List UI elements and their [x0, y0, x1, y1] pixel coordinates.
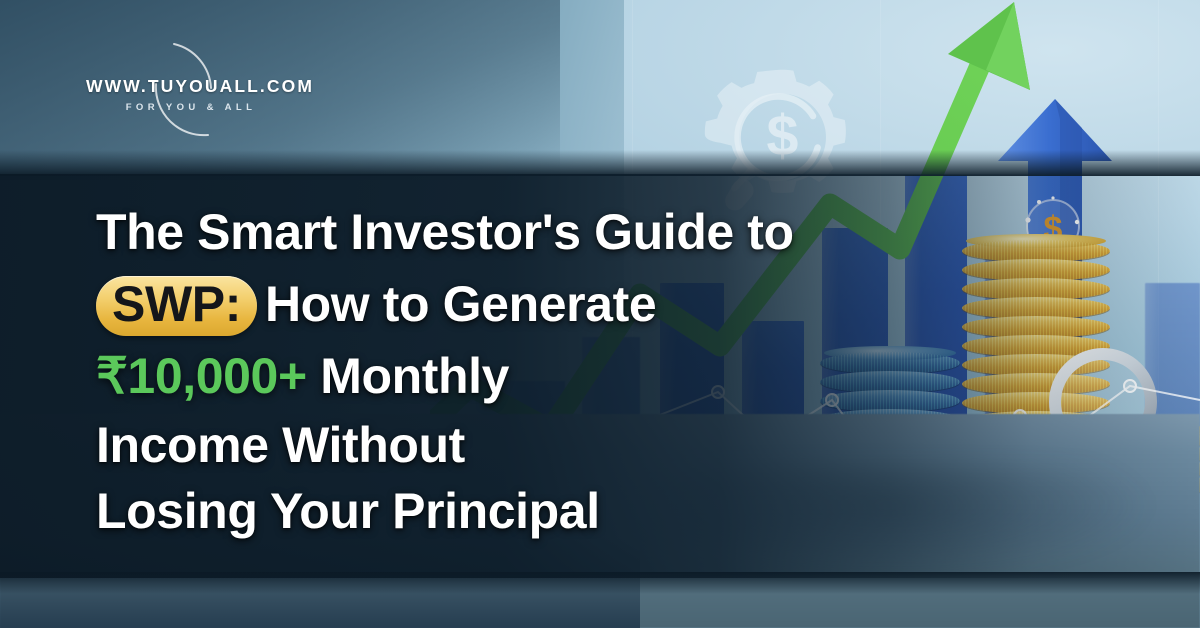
headline-line-1: The Smart Investor's Guide to — [96, 196, 996, 268]
overlay-top-fade — [0, 150, 1200, 176]
logo-domain-text: WWW.TUYOUALL.COM — [86, 76, 296, 97]
featured-image-banner: $ — [0, 0, 1200, 628]
headline-line-5: Losing Your Principal — [96, 478, 996, 544]
headline-amount: ₹10,000+ — [96, 348, 307, 404]
logo-tagline: FOR YOU & ALL — [86, 102, 296, 113]
headline-line-2-rest: How to Generate — [265, 276, 656, 332]
headline-line-3-rest: Monthly — [320, 348, 509, 404]
page-title: The Smart Investor's Guide to SWP:How to… — [96, 196, 996, 544]
site-logo[interactable]: WWW.TUYOUALL.COM FOR YOU & ALL — [86, 32, 296, 147]
overlay-bottom-fade — [0, 572, 1200, 594]
swp-badge: SWP: — [96, 276, 257, 336]
headline-line-4: Income Without — [96, 412, 996, 478]
